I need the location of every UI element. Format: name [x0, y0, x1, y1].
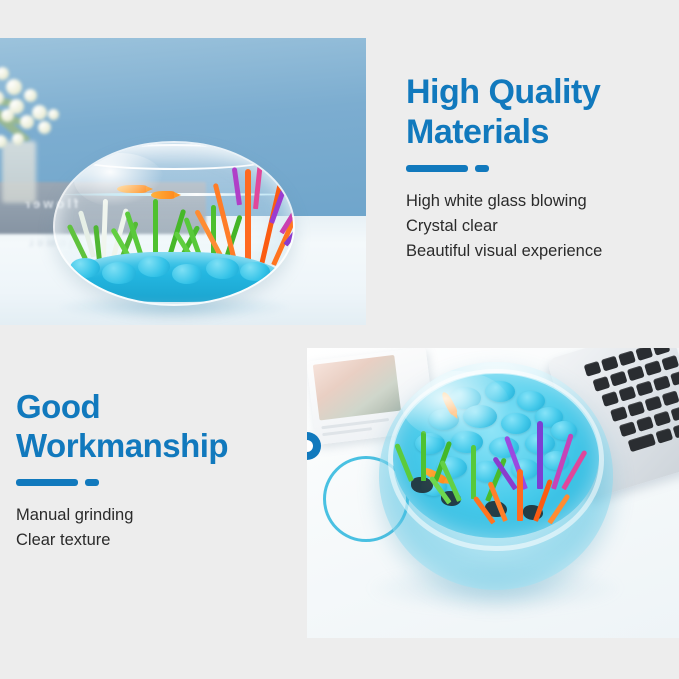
fishbowl-top-view-photo	[307, 348, 679, 638]
blue-gravel-bed	[60, 252, 288, 302]
product-feature-page: flower flower	[0, 0, 679, 679]
feature-bullet: Beautiful visual experience	[406, 239, 674, 264]
divider-dash-long	[16, 479, 78, 486]
divider-dash-short	[475, 165, 489, 172]
aquarium-plant-orange-purple	[219, 163, 295, 267]
feature-bullet: High white glass blowing	[406, 189, 674, 214]
divider-dash-short	[85, 479, 99, 486]
feature-bullet-list: High white glass blowing Crystal clear B…	[406, 189, 674, 264]
high-quality-materials-block: High Quality Materials High white glass …	[406, 72, 674, 264]
orange-fish	[151, 191, 175, 199]
accent-divider	[406, 165, 674, 172]
glass-fishbowl	[53, 141, 295, 306]
magazine-cover-image	[313, 355, 401, 421]
section-heading: Good Workmanship	[16, 388, 326, 466]
feature-bullet: Manual grinding	[16, 503, 326, 528]
heading-line-1: Good	[16, 388, 326, 427]
heading-line-2: Materials	[406, 112, 674, 152]
flower-bouquet	[0, 49, 84, 169]
section-heading: High Quality Materials	[406, 72, 674, 152]
feature-bullet: Crystal clear	[406, 214, 674, 239]
feature-bullet-list: Manual grinding Clear texture	[16, 503, 326, 553]
heading-line-1: High Quality	[406, 72, 674, 112]
glass-fishbowl	[379, 362, 613, 590]
orange-fish	[117, 185, 147, 193]
good-workmanship-block: Good Workmanship Manual grinding Clear t…	[16, 388, 326, 553]
heading-line-2: Workmanship	[16, 427, 326, 466]
glass-highlight	[402, 371, 510, 439]
divider-dash-long	[406, 165, 468, 172]
fishbowl-side-view-photo: flower flower	[0, 38, 366, 325]
feature-bullet: Clear texture	[16, 528, 326, 553]
accent-divider	[16, 479, 326, 486]
